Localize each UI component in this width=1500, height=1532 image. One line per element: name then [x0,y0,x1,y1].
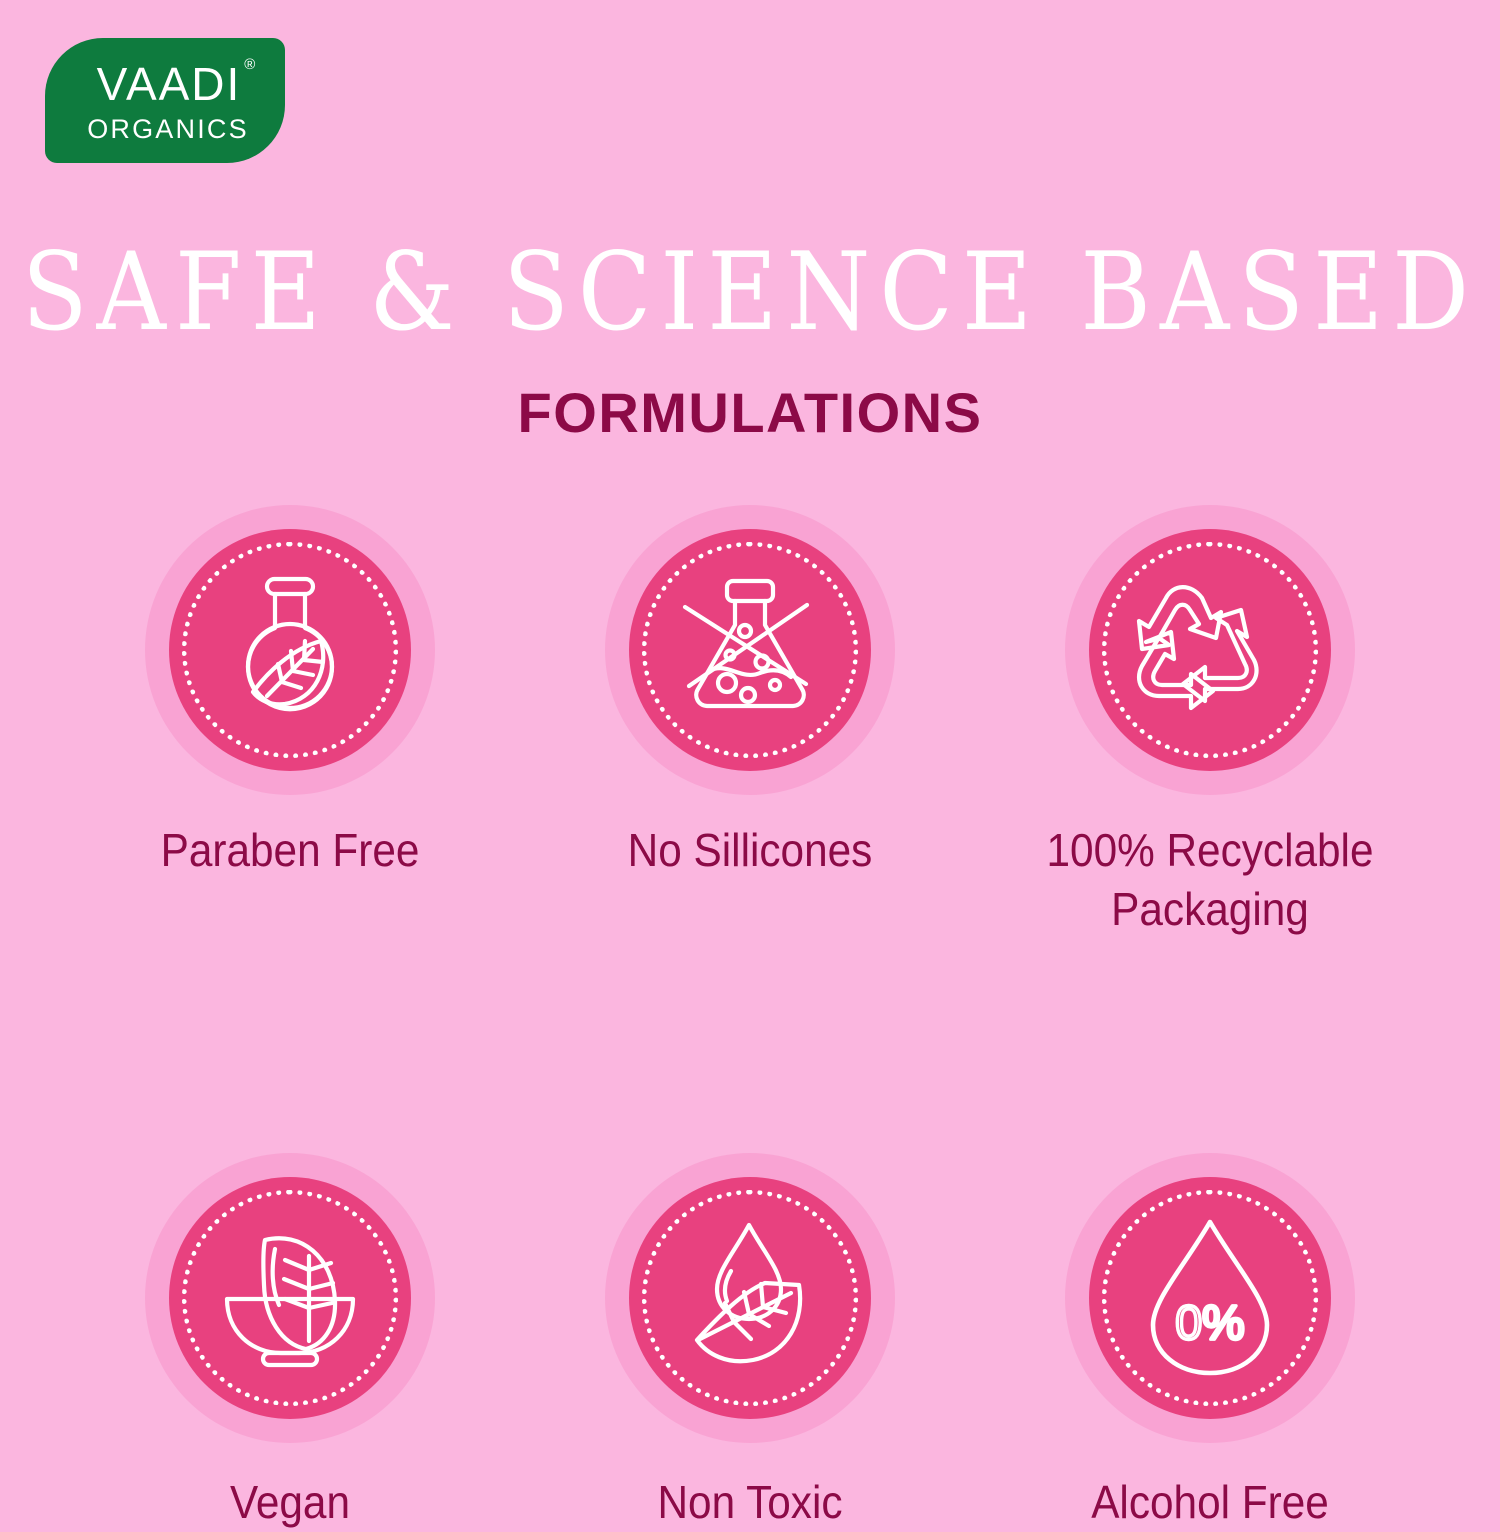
badge-label: Non Toxic [557,1473,943,1532]
badge-item-recyclable-packaging: 100% Recyclable Packaging [1065,505,1355,939]
badge-circle [605,505,895,795]
badge-item-non-toxic: Non Toxic [605,1153,895,1532]
bowl-with-leaf-icon [205,1213,375,1383]
brand-name-text: VAADI [97,58,242,110]
badge-circle: 0% [1065,1153,1355,1443]
badge-circle [605,1153,895,1443]
badge-item-no-sillicones: No Sillicones [605,505,895,939]
badge-label: Paraben Free [97,821,483,880]
feature-badge-grid: Paraben Free [0,505,1500,1532]
badge-circle [1065,505,1355,795]
badge-row-2: Vegan [0,1153,1500,1532]
droplet-on-leaf-icon [665,1213,835,1383]
badge-circle [145,505,435,795]
badge-item-vegan: Vegan [145,1153,435,1532]
brand-name-primary: VAADI® [89,61,242,107]
badge-label: No Sillicones [557,821,943,880]
zero-percent-label: 0% [1175,1297,1244,1350]
badge-item-alcohol-free: 0% Alcohol Free [1065,1153,1355,1532]
brand-logo: VAADI® ORGANICS [45,38,285,163]
brand-name-secondary: ORGANICS [81,116,249,143]
recycle-icon [1125,565,1295,735]
registered-trademark-icon: ® [244,57,257,72]
page-title: SAFE & SCIENCE BASED [0,236,1500,349]
badge-label: Alcohol Free [1017,1473,1403,1532]
badge-item-paraben-free: Paraben Free [145,505,435,939]
badge-label: Vegan [97,1473,483,1532]
badge-row-1: Paraben Free [0,505,1500,939]
crossed-out-erlenmeyer-flask-icon [665,565,835,735]
badge-label: 100% Recyclable Packaging [1017,821,1403,939]
page-subtitle: FORMULATIONS [0,385,1500,441]
droplet-zero-percent-icon: 0% [1125,1213,1295,1383]
flask-leaf-icon [205,565,375,735]
badge-circle [145,1153,435,1443]
